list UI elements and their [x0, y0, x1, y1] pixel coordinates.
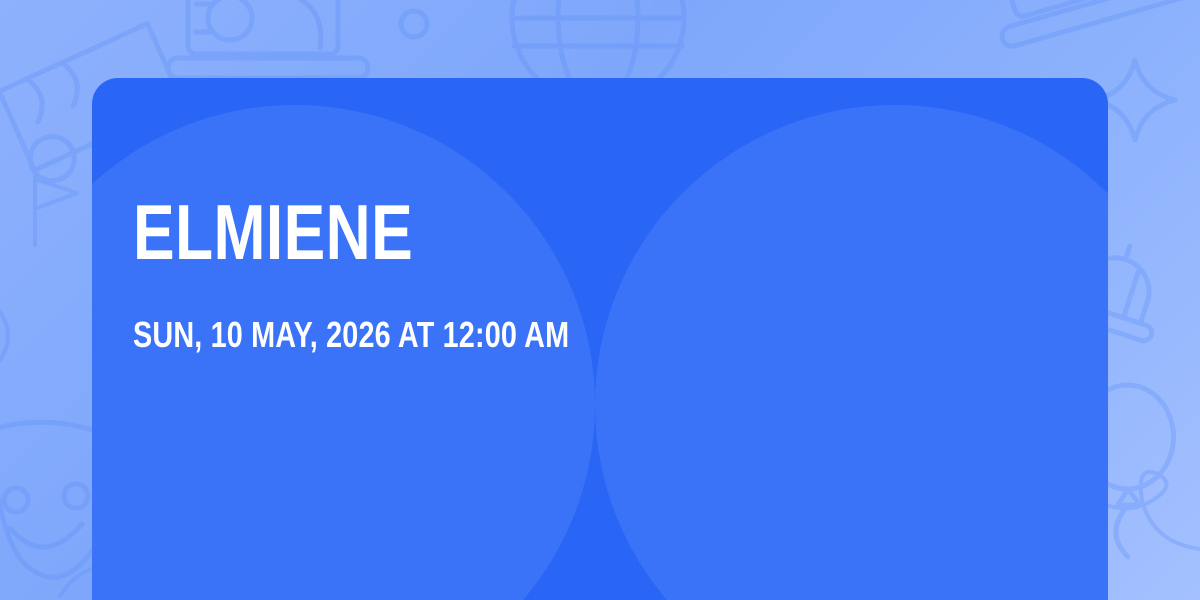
event-title: Elmiene: [133, 198, 837, 267]
confetti-icon: [35, 175, 77, 245]
event-banner-page: Elmiene Sun, 10 May, 2026 at 12:00 AM: [0, 0, 1200, 600]
dj-turntable-icon: [168, 0, 368, 78]
event-card[interactable]: Elmiene Sun, 10 May, 2026 at 12:00 AM: [92, 78, 1108, 600]
confetti-icon: [0, 300, 8, 360]
microphone-icon: [981, 0, 1198, 49]
event-card-text: Elmiene Sun, 10 May, 2026 at 12:00 AM: [133, 198, 1013, 353]
sparkle-icon: [401, 11, 427, 37]
event-datetime: Sun, 10 May, 2026 at 12:00 AM: [133, 317, 837, 353]
